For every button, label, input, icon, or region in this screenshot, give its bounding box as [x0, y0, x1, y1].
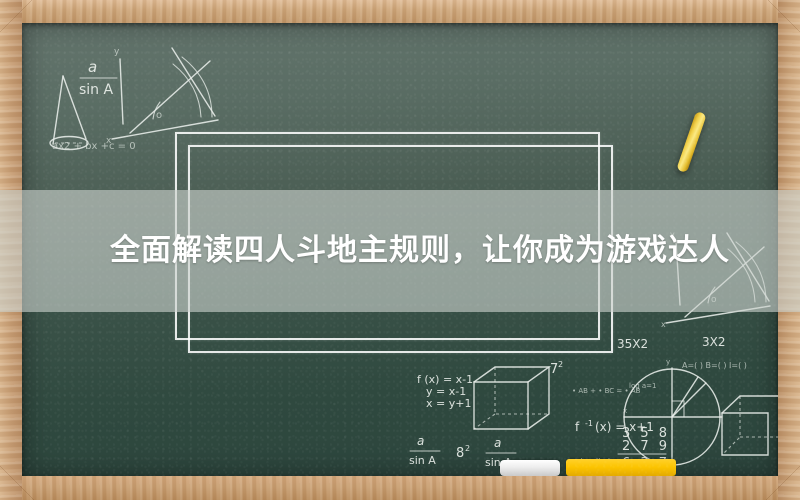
svg-text:2: 2: [465, 444, 470, 453]
mult-35x2: 35X2: [617, 337, 648, 351]
svg-text:f (x) = x-1: f (x) = x-1: [417, 373, 473, 386]
svg-text:y = x-1: y = x-1: [426, 385, 466, 398]
svg-text:sin A: sin A: [79, 82, 114, 98]
vector-sum: • AB + • BC = • AB: [572, 387, 641, 395]
svg-text:2 7 9: 2 7 9: [622, 439, 670, 454]
svg-text:x: x: [623, 407, 627, 415]
svg-text:o: o: [711, 295, 717, 305]
svg-text:y: y: [114, 47, 120, 57]
svg-text:sin A: sin A: [409, 454, 436, 467]
svg-text:(x) = x+1: (x) = x+1: [595, 420, 654, 434]
svg-text:x: x: [661, 320, 666, 329]
law-of-sines-formula-2: a sin A: [409, 434, 440, 467]
tray-chalk-white: [500, 460, 560, 476]
mult-3x2: 3X2: [702, 335, 726, 349]
frame-right-stile: [778, 0, 800, 500]
svg-text:x = y+1: x = y+1: [426, 397, 471, 410]
svg-text:a: a: [88, 58, 97, 76]
quadratic-formula: ax2 + bx +c = 0: [52, 141, 136, 152]
cube-diagram-left: [474, 367, 549, 429]
svg-text:y: y: [666, 358, 670, 366]
svg-text:-1: -1: [585, 419, 593, 428]
log-expression: log a=1: [629, 382, 657, 390]
screenshot-stage: .ck { fill:none; stroke:#e9eeea; stroke-…: [0, 0, 800, 500]
frame-top-rail: [0, 0, 800, 23]
matrix-expressions: A=( ) B=( ) I=( ): [682, 361, 747, 370]
function-definitions: f (x) = x-1 y = x-1 x = y+1: [417, 373, 473, 410]
svg-text:3 5 8: 3 5 8: [622, 426, 670, 441]
circle-diagram: y x: [623, 358, 722, 466]
svg-text:a: a: [417, 434, 424, 448]
svg-text:x: x: [106, 136, 112, 146]
svg-text:o: o: [156, 110, 162, 121]
inverse-function: f: [575, 420, 580, 434]
page-title: 全面解读四人斗地主规则，让你成为游戏达人: [110, 231, 730, 271]
frame-bottom-rail: [0, 476, 800, 500]
square-eight: 8: [456, 446, 464, 461]
square-seven: 7: [550, 362, 558, 377]
svg-text:2: 2: [558, 360, 563, 369]
chalk-stick-yellow: [676, 111, 707, 173]
frame-left-stile: [0, 0, 22, 500]
svg-text:a: a: [494, 436, 501, 450]
tray-chalk-yellow: [566, 459, 676, 476]
cone-diagram: [50, 76, 88, 150]
law-of-sines-formula-1: a sin A: [79, 58, 117, 98]
cube-diagram-right: [722, 396, 778, 455]
